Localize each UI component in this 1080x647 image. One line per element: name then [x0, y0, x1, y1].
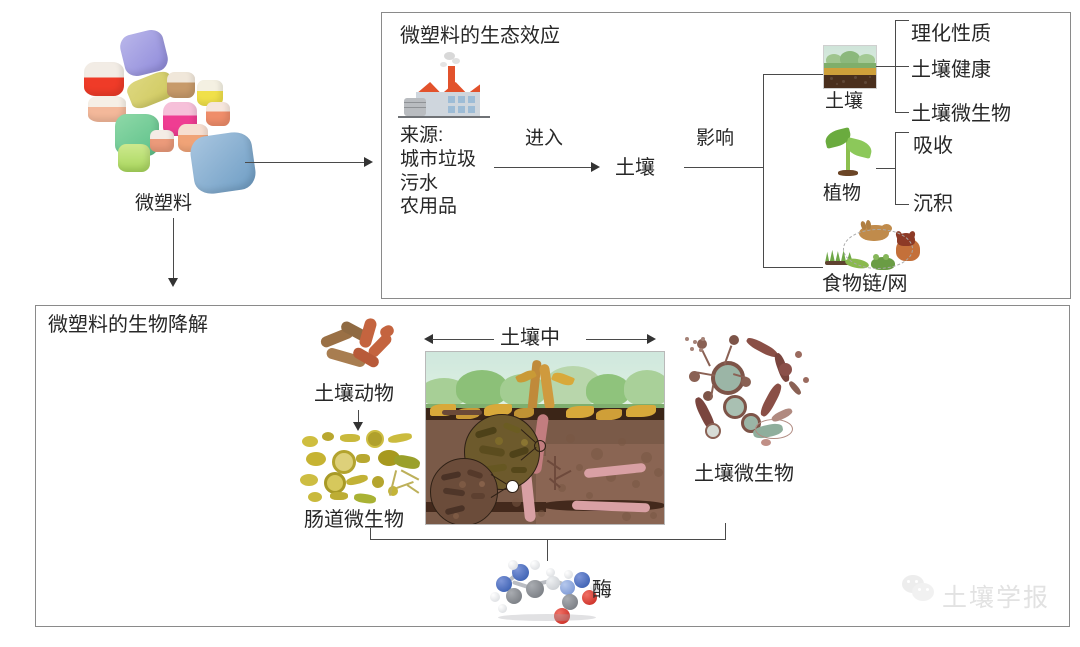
enzyme-label: 酶 [592, 578, 612, 603]
plant-effects-stem [876, 168, 896, 169]
source-line-2: 污水 [400, 172, 476, 196]
soil-effects-stem [876, 66, 896, 67]
enzyme-bracket-right [725, 523, 726, 540]
soil-span-line-right [586, 339, 648, 340]
soil-effect-tick-1 [895, 66, 909, 67]
branch-foodchain-label: 食物链/网 [822, 272, 908, 297]
soil-microbes-label: 土壤微生物 [694, 462, 794, 487]
soil-effect-tick-0 [895, 20, 909, 21]
enter-arrow-head [591, 162, 600, 172]
arrow-to-bottom-panel-head [168, 278, 178, 287]
watermark-text: 土壤学报 [942, 578, 1050, 614]
wechat-icon [902, 575, 936, 603]
branch-line-foodchain [763, 267, 823, 268]
source-line-3: 农用品 [400, 195, 476, 219]
gut-microbiota-icon [296, 428, 428, 512]
branch-line-soil [763, 74, 823, 75]
soil-animals-label: 土壤动物 [314, 382, 394, 407]
plant-effect-tick-0 [895, 132, 909, 133]
arrow-enter-label: 进入 [525, 127, 563, 151]
enter-arrow-line [494, 167, 592, 168]
soil-effect-1: 土壤健康 [911, 58, 991, 83]
branch-plant-label: 植物 [823, 182, 861, 206]
soil-effect-0: 理化性质 [911, 22, 991, 47]
affect-trunk-line [684, 167, 764, 168]
gut-microbes-label: 肠道微生物 [304, 508, 404, 533]
soil-cross-section-icon [425, 351, 665, 525]
food-chain-icon [825, 225, 925, 273]
figure-canvas: 微塑料 微塑料的生态效应 来源: 城市垃圾 污水 [0, 0, 1080, 647]
plant-effects-bracket [895, 132, 896, 204]
source-list: 来源: 城市垃圾 污水 农用品 [400, 124, 476, 219]
soil-span-line-left [432, 339, 494, 340]
plant-effect-tick-1 [895, 204, 909, 205]
arrow-to-bottom-panel-line [173, 218, 174, 280]
arrow-to-top-panel-head [364, 157, 373, 167]
top-panel-title: 微塑料的生态效应 [400, 24, 560, 49]
source-line-1: 城市垃圾 [400, 148, 476, 172]
microplastic-particles-icon [60, 22, 260, 172]
soil-microorganisms-icon [683, 333, 823, 457]
source-line-0: 来源: [400, 124, 476, 148]
soil-node-label: 土壤 [615, 156, 655, 181]
soil-effect-tick-2 [895, 112, 909, 113]
soil-profile-thumbnail-icon [823, 45, 877, 89]
plant-effect-1: 沉积 [913, 192, 953, 217]
branch-spine [763, 74, 764, 268]
soil-span-label: 土壤中 [500, 326, 560, 351]
earthworms-icon [318, 320, 410, 378]
soil-effect-2: 土壤微生物 [911, 102, 1011, 127]
arrow-affect-label: 影响 [696, 127, 734, 151]
factory-icon [404, 56, 490, 118]
plant-sprout-icon [826, 128, 872, 180]
branch-soil-label: 土壤 [825, 90, 863, 114]
soil-span-arrow-right [647, 334, 656, 344]
bottom-panel-title: 微塑料的生物降解 [48, 313, 208, 338]
plant-effect-0: 吸收 [913, 134, 953, 159]
arrow-to-top-panel-line [245, 162, 365, 163]
enzyme-bracket-span [370, 539, 726, 540]
microplastics-label: 微塑料 [135, 192, 192, 216]
